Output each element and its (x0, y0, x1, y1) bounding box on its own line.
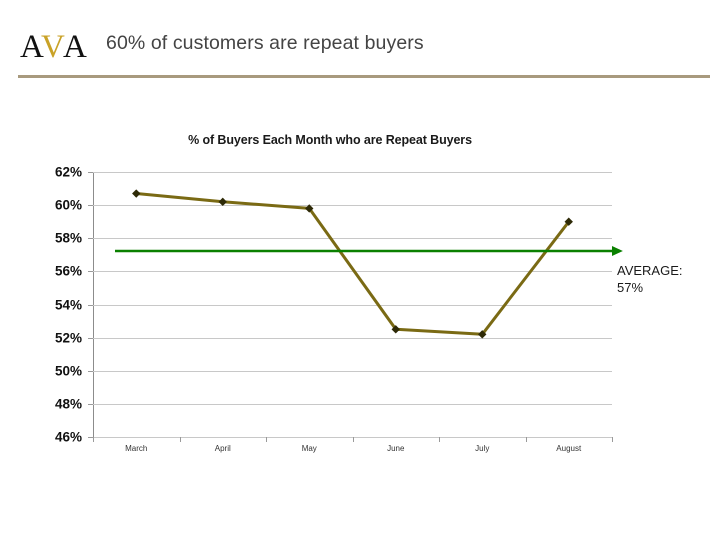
y-axis-label: 60% (55, 198, 82, 213)
y-axis-label: 46% (55, 430, 82, 445)
data-point-marker (132, 189, 140, 197)
data-series-line (93, 172, 612, 438)
average-line-arrow (115, 243, 630, 259)
series-polyline (136, 194, 569, 335)
y-axis-label: 56% (55, 264, 82, 279)
chart-title: % of Buyers Each Month who are Repeat Bu… (0, 133, 660, 147)
x-axis-tick (612, 437, 613, 442)
y-axis-label: 62% (55, 165, 82, 180)
x-axis-label: July (475, 444, 489, 453)
average-value-text: 57% (617, 279, 717, 296)
y-axis-label: 54% (55, 297, 82, 312)
y-axis-label: 52% (55, 330, 82, 345)
series-markers (132, 189, 573, 338)
y-axis-label: 48% (55, 396, 82, 411)
average-label-text: AVERAGE: (617, 262, 717, 279)
y-axis-label: 58% (55, 231, 82, 246)
x-axis-label: March (125, 444, 147, 453)
x-axis-label: June (387, 444, 404, 453)
chart-region: % of Buyers Each Month who are Repeat Bu… (0, 0, 720, 540)
y-axis-label: 50% (55, 363, 82, 378)
chart-plot-area: 62%60%58%56%54%52%50%48%46% MarchAprilMa… (93, 172, 612, 437)
x-axis-label: August (556, 444, 581, 453)
x-axis-label: April (215, 444, 231, 453)
x-axis-label: May (302, 444, 317, 453)
data-point-marker (219, 198, 227, 206)
average-annotation: AVERAGE: 57% (617, 262, 717, 296)
